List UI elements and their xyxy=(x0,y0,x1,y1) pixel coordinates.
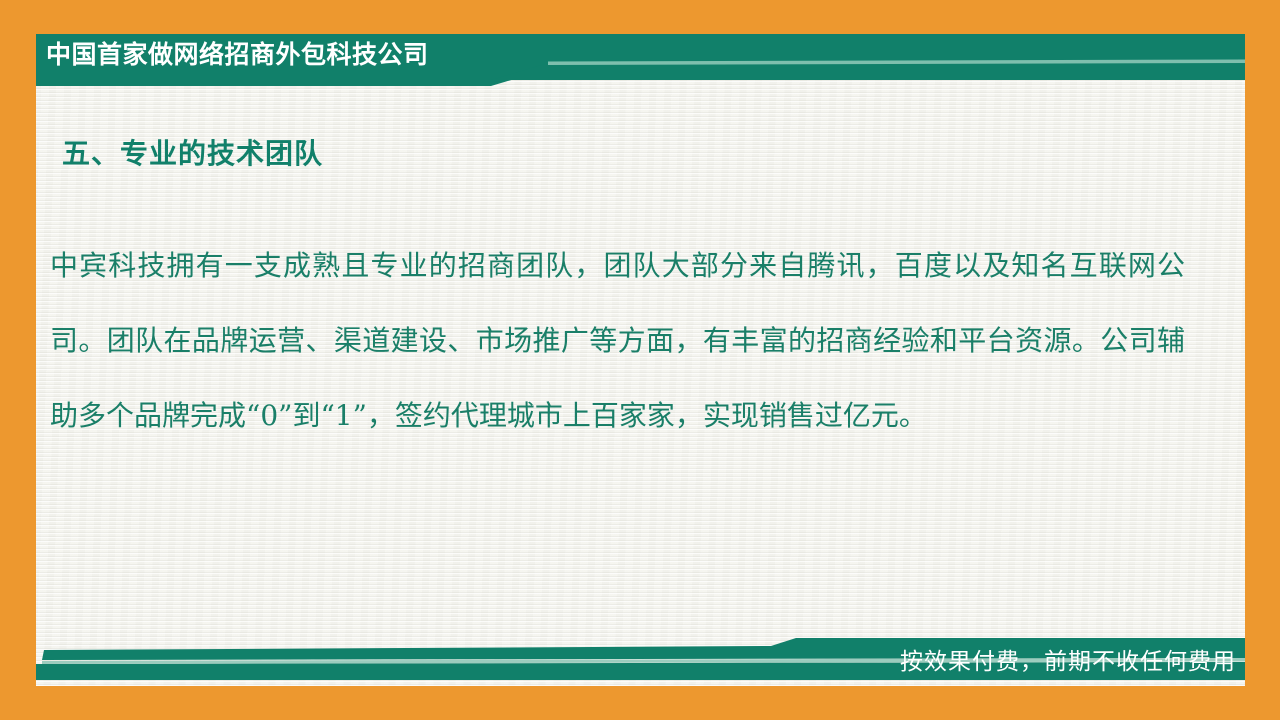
slide-canvas: 中国首家做网络招商外包科技公司 五、专业的技术团队 中宾科技拥有一支成熟且专业的… xyxy=(0,0,1280,720)
header-title: 中国首家做网络招商外包科技公司 xyxy=(46,38,429,72)
footer-tagline: 按效果付费，前期不收任何费用 xyxy=(900,646,1236,678)
body-paragraph: 中宾科技拥有一支成熟且专业的招商团队，团队大部分来自腾讯，百度以及知名互联网公司… xyxy=(50,228,1185,453)
body-paragraph-block: 中宾科技拥有一支成熟且专业的招商团队，团队大部分来自腾讯，百度以及知名互联网公司… xyxy=(50,228,1185,453)
section-heading: 五、专业的技术团队 xyxy=(62,134,323,174)
